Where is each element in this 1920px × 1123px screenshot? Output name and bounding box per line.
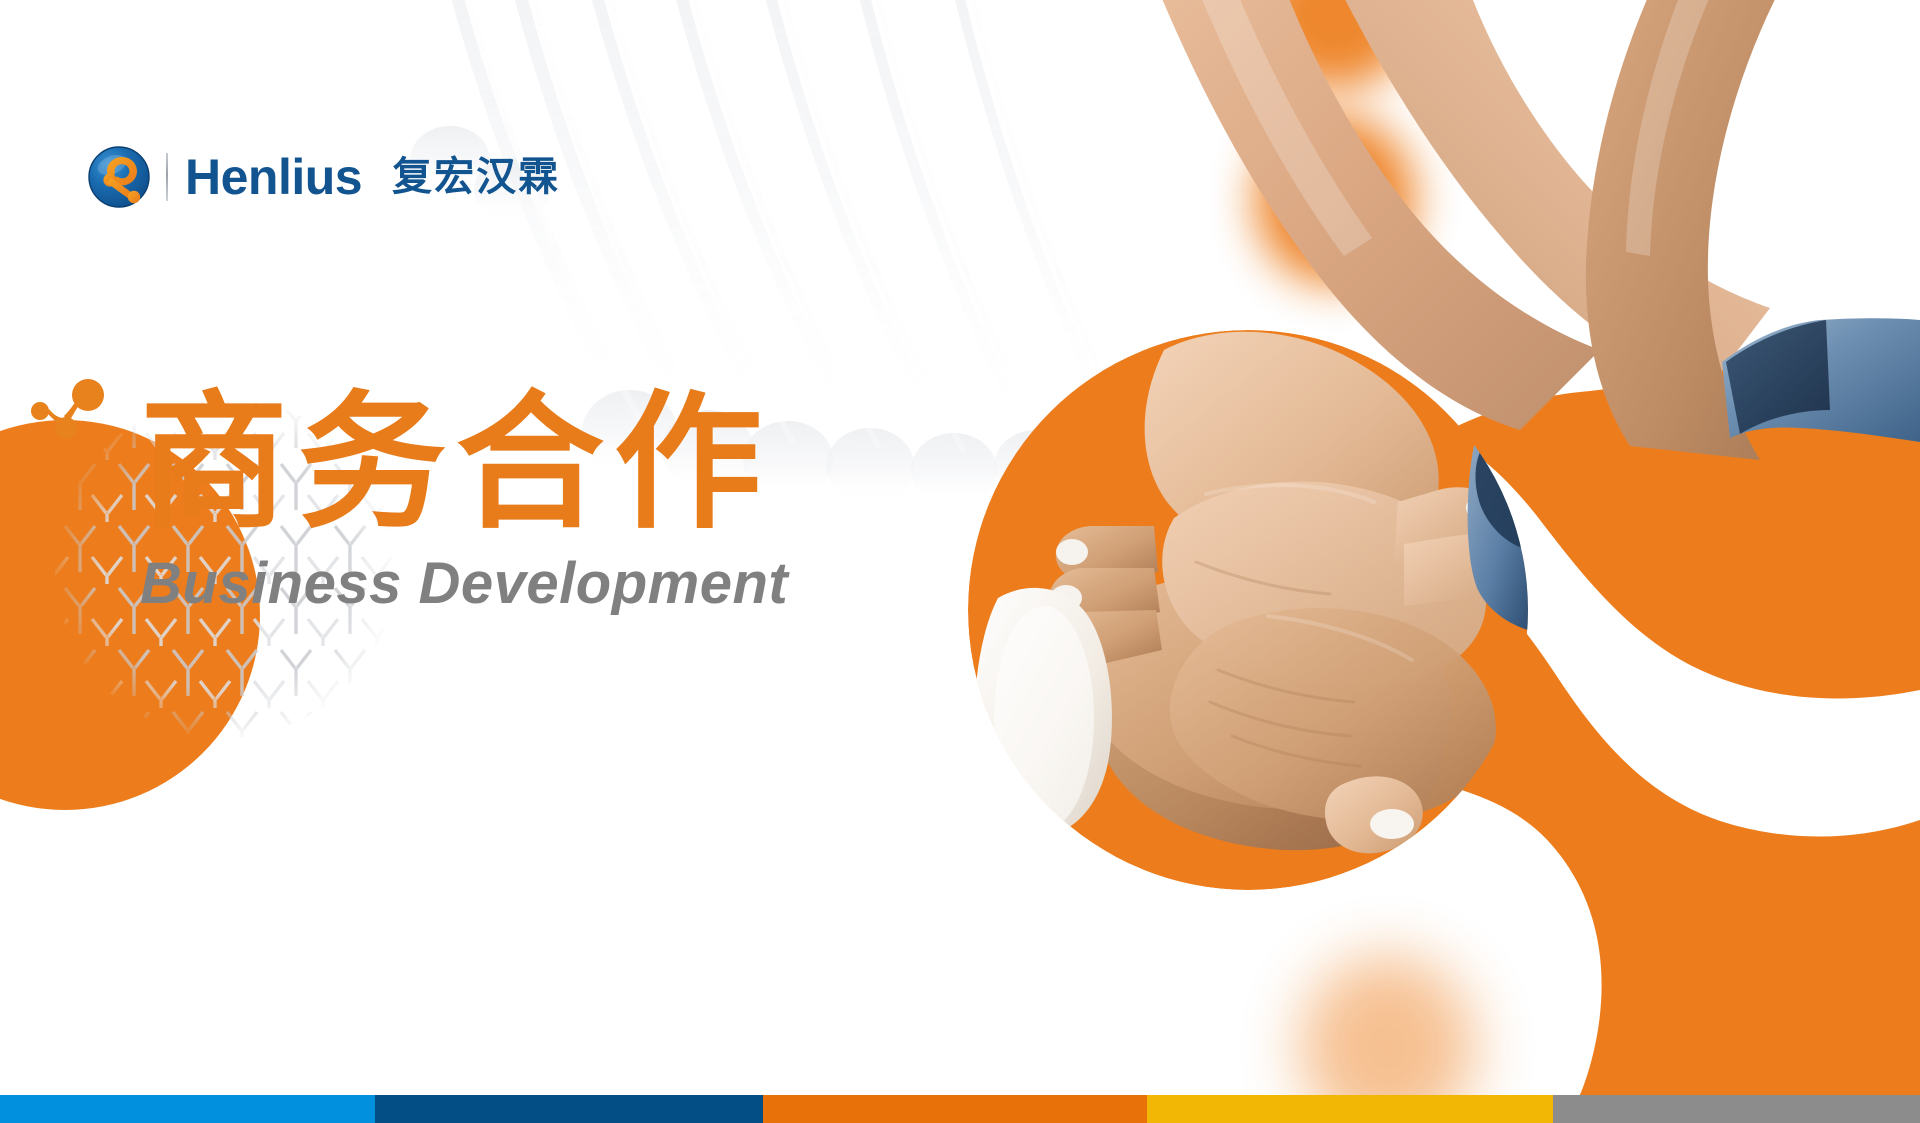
segment-dark-blue [375,1095,763,1123]
logo-divider [166,153,168,201]
segment-gray [1553,1095,1920,1123]
segment-light-blue [0,1095,375,1123]
logo-chinese-name: 复宏汉霖 [392,157,560,197]
henlius-molecule-mark [88,146,150,208]
title-block: 商务合作 Business Development [140,385,960,617]
henlius-logo[interactable]: Henlius 复宏汉霖 [88,144,560,210]
orange-molecule-decoration [28,378,108,448]
segment-gold [1147,1095,1553,1123]
page-subtitle-english: Business Development [140,550,960,617]
presentation-slide: Henlius 复宏汉霖 商务合作 Business Development [0,0,1920,1123]
bottom-color-bar [0,1095,1920,1123]
segment-orange [763,1095,1147,1123]
logo-wordmark: Henlius [185,152,362,202]
stacked-hands-photo [968,330,1528,890]
page-title-chinese: 商务合作 [140,385,960,542]
